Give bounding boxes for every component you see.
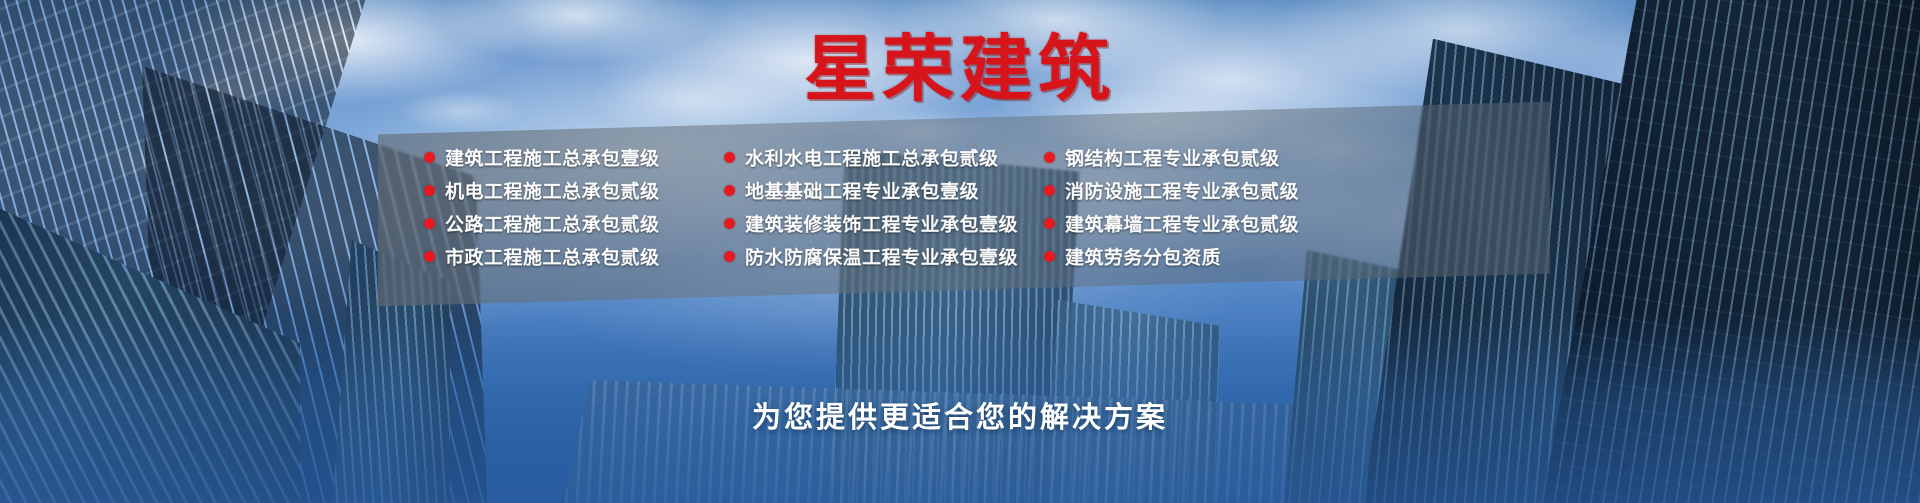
list-item: 钢结构工程专业承包贰级: [1044, 142, 1344, 173]
qualification-panel: 建筑工程施工总承包壹级 机电工程施工总承包贰级 公路工程施工总承包贰级 市政工程…: [378, 102, 1550, 307]
list-item: 建筑幕墙工程专业承包贰级: [1044, 208, 1344, 239]
qualification-label: 建筑工程施工总承包壹级: [445, 144, 660, 171]
qualification-label: 地基基础工程专业承包壹级: [745, 177, 979, 204]
list-item: 防水防腐保温工程专业承包壹级: [724, 241, 1044, 272]
bullet-dot-icon: [1044, 152, 1055, 163]
qualification-label: 防水防腐保温工程专业承包壹级: [745, 243, 1018, 270]
list-item: 机电工程施工总承包贰级: [424, 175, 724, 206]
page-title: 星荣建筑: [0, 34, 1920, 106]
qualification-label: 机电工程施工总承包贰级: [445, 177, 660, 204]
qualification-label: 钢结构工程专业承包贰级: [1065, 144, 1280, 171]
bullet-dot-icon: [724, 152, 735, 163]
hero-banner: 星荣建筑 建筑工程施工总承包壹级 机电工程施工总承包贰级 公路工程施工总承包贰级: [0, 0, 1920, 503]
qualification-label: 建筑幕墙工程专业承包贰级: [1065, 210, 1299, 237]
bullet-dot-icon: [424, 251, 435, 262]
bullet-dot-icon: [424, 185, 435, 196]
bullet-dot-icon: [1044, 218, 1055, 229]
bullet-dot-icon: [1044, 185, 1055, 196]
list-item: 建筑装修装饰工程专业承包壹级: [724, 208, 1044, 239]
qualification-column-1: 建筑工程施工总承包壹级 机电工程施工总承包贰级 公路工程施工总承包贰级 市政工程…: [424, 142, 724, 290]
bullet-dot-icon: [1044, 251, 1055, 262]
qualification-label: 市政工程施工总承包贰级: [445, 243, 660, 270]
qualification-label: 消防设施工程专业承包贰级: [1065, 177, 1299, 204]
qualification-column-3: 钢结构工程专业承包贰级 消防设施工程专业承包贰级 建筑幕墙工程专业承包贰级 建筑…: [1044, 142, 1344, 290]
list-item: 市政工程施工总承包贰级: [424, 241, 724, 272]
bullet-dot-icon: [724, 218, 735, 229]
list-item: 消防设施工程专业承包贰级: [1044, 175, 1344, 206]
bullet-dot-icon: [424, 218, 435, 229]
bullet-dot-icon: [724, 251, 735, 262]
list-item: 水利水电工程施工总承包贰级: [724, 142, 1044, 173]
qualification-label: 建筑劳务分包资质: [1065, 243, 1221, 270]
qualification-column-2: 水利水电工程施工总承包贰级 地基基础工程专业承包壹级 建筑装修装饰工程专业承包壹…: [724, 142, 1044, 290]
qualification-label: 水利水电工程施工总承包贰级: [745, 144, 999, 171]
tagline: 为您提供更适合您的解决方案: [0, 394, 1920, 436]
qualification-label: 建筑装修装饰工程专业承包壹级: [745, 210, 1018, 237]
list-item: 地基基础工程专业承包壹级: [724, 175, 1044, 206]
list-item: 建筑劳务分包资质: [1044, 241, 1344, 272]
list-item: 建筑工程施工总承包壹级: [424, 142, 724, 173]
bullet-dot-icon: [724, 185, 735, 196]
qualification-label: 公路工程施工总承包贰级: [445, 210, 660, 237]
list-item: 公路工程施工总承包贰级: [424, 208, 724, 239]
bullet-dot-icon: [424, 152, 435, 163]
